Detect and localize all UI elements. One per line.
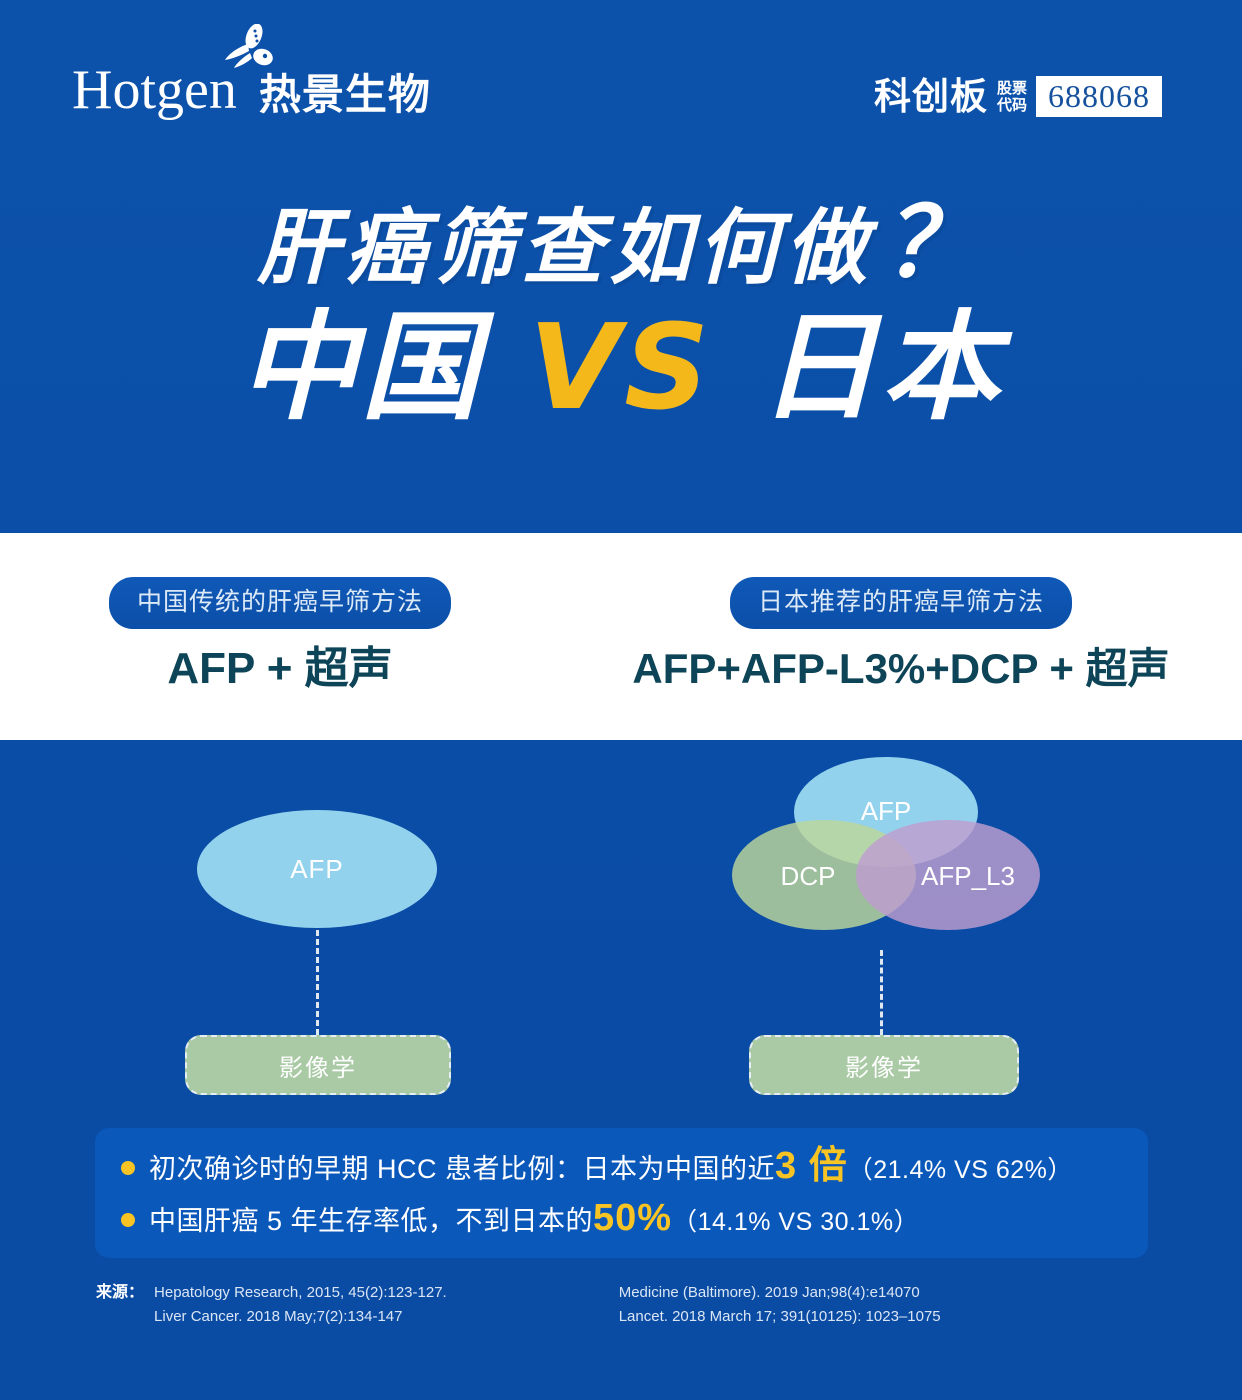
infographic-page: Hotgen 热景生物 科创板 股票 代码 688 (0, 0, 1242, 1400)
stock-code-value: 688068 (1036, 76, 1162, 117)
hero-section: 肝癌筛查如何做？ 中国VS日本 (0, 195, 1242, 535)
formula-japan: AFP+AFP-L3%+DCP + 超声 (560, 643, 1242, 695)
sources-column-2: Medicine (Baltimore). 2019 Jan;98(4):e14… (619, 1281, 941, 1329)
stock-listing: 科创板 股票 代码 688068 (874, 76, 1162, 117)
bullet-text-after: （21.4% VS 62%） (848, 1156, 1073, 1184)
source-entry: Hepatology Research, 2015, 45(2):123-127… (154, 1284, 447, 1301)
bullet-highlight: 50% (593, 1197, 672, 1239)
sources-footer: 来源： Hepatology Research, 2015, 45(2):123… (96, 1281, 1146, 1329)
bullet-dot-icon (121, 1213, 135, 1227)
marker-ellipse-afp: AFP (197, 810, 437, 928)
source-entry: Liver Cancer. 2018 May;7(2):134-147 (154, 1308, 402, 1325)
sources-label: 来源： (96, 1281, 144, 1329)
formula-china: AFP + 超声 (0, 643, 560, 695)
bullet-item: 初次确诊时的早期 HCC 患者比例：日本为中国的近3 倍（21.4% VS 62… (95, 1142, 1148, 1194)
venn-label-afpl3: AFP_L3 (921, 861, 1015, 891)
logo-chinese-name: 热景生物 (259, 72, 431, 118)
logo-wordmark: Hotgen (72, 62, 237, 118)
badge-china-method: 中国传统的肝癌早筛方法 (109, 577, 451, 629)
bullet-text: 初次确诊时的早期 HCC 患者比例：日本为中国的近3 倍（21.4% VS 62… (149, 1149, 1073, 1187)
badge-japan-method: 日本推荐的肝癌早筛方法 (730, 577, 1072, 629)
bullet-dot-icon (121, 1161, 135, 1175)
bullet-text-before: 初次确诊时的早期 HCC 患者比例：日本为中国的近 (149, 1154, 775, 1184)
badge-row-japan: 日本推荐的肝癌早筛方法 (560, 533, 1242, 629)
vs-headline: 中国VS日本 (0, 307, 1242, 464)
stock-code-label-line1: 股票 (997, 80, 1027, 97)
statistics-panel: 初次确诊时的早期 HCC 患者比例：日本为中国的近3 倍（21.4% VS 62… (95, 1128, 1148, 1258)
venn-label-dcp: DCP (781, 861, 836, 891)
method-card-china: 中国传统的肝癌早筛方法 AFP + 超声 (0, 533, 560, 740)
imaging-box-right: 影像学 (749, 1035, 1019, 1095)
bullet-text-before: 中国肝癌 5 年生存率低，不到日本的 (149, 1206, 593, 1236)
method-card-japan: 日本推荐的肝癌早筛方法 AFP+AFP-L3%+DCP + 超声 (560, 533, 1242, 740)
country-left: 中国 (239, 302, 483, 434)
methods-band: 中国传统的肝癌早筛方法 AFP + 超声 日本推荐的肝癌早筛方法 AFP+AFP… (0, 533, 1242, 740)
page-title: 肝癌筛查如何做？ (0, 195, 1242, 297)
venn-diagram-japan: AFP DCP AFP_L3 (716, 750, 1056, 960)
bullet-text: 中国肝癌 5 年生存率低，不到日本的50%（14.1% VS 30.1%） (149, 1201, 919, 1239)
stock-code-label: 股票 代码 (997, 80, 1027, 114)
diagram-section: AFP 影像学 AFP DCP AFP_L3 影像学 (0, 740, 1242, 1130)
country-right: 日本 (759, 302, 1003, 434)
header: Hotgen 热景生物 科创板 股票 代码 688 (0, 0, 1242, 170)
connector-line-right (880, 950, 883, 1035)
source-entry: Medicine (Baltimore). 2019 Jan;98(4):e14… (619, 1284, 920, 1301)
vs-label: VS (529, 298, 713, 436)
sources-column-1: Hepatology Research, 2015, 45(2):123-127… (154, 1281, 447, 1329)
page-title-text: 肝癌筛查如何做 (257, 203, 873, 294)
source-entry: Lancet. 2018 March 17; 391(10125): 1023–… (619, 1308, 941, 1325)
badge-row-china: 中国传统的肝癌早筛方法 (0, 533, 560, 629)
bullet-item: 中国肝癌 5 年生存率低，不到日本的50%（14.1% VS 30.1%） (95, 1194, 1148, 1246)
bullet-text-after: （14.1% VS 30.1%） (672, 1208, 919, 1236)
brand-logo: Hotgen 热景生物 (72, 62, 431, 118)
butterfly-icon (224, 24, 284, 82)
question-mark-icon: ？ (883, 187, 985, 299)
imaging-box-left: 影像学 (185, 1035, 451, 1095)
stock-board-label: 科创板 (874, 77, 988, 117)
bullet-highlight: 3 倍 (775, 1145, 848, 1187)
venn-label-afp: AFP (861, 796, 912, 826)
stock-code-label-line2: 代码 (997, 97, 1027, 114)
connector-line-left (316, 930, 319, 1035)
